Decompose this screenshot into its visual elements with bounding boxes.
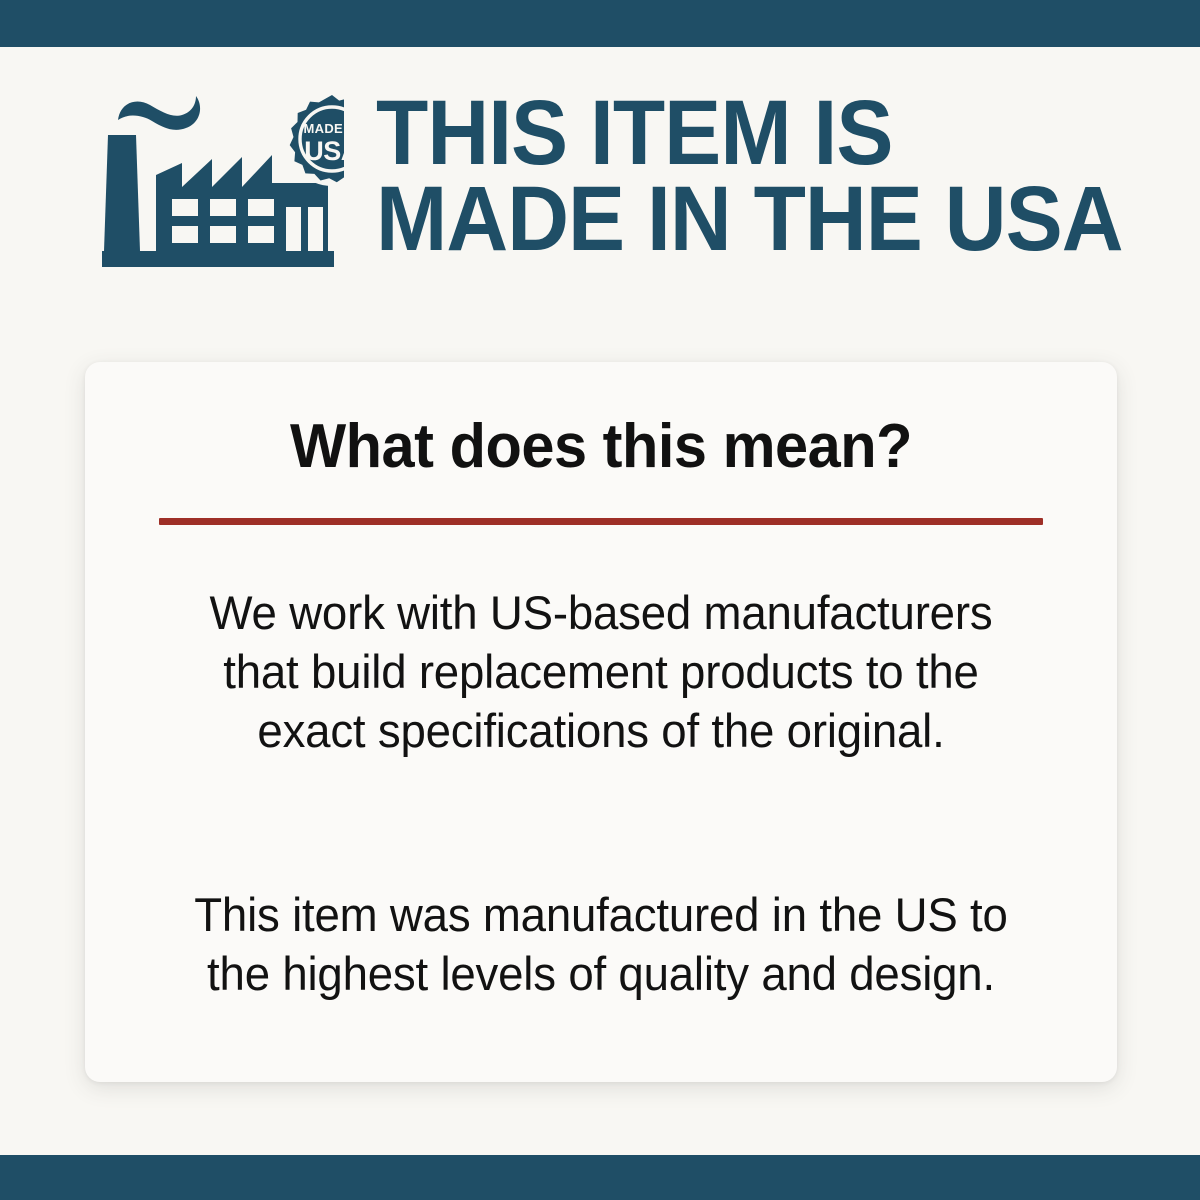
- factory-icon: MADE IN USA: [100, 87, 344, 273]
- made-in-usa-banner: MADE IN USA THIS ITEM IS MADE IN THE USA…: [0, 0, 1200, 1200]
- card-heading: What does this mean?: [173, 414, 1029, 480]
- card-paragraph-2: This item was manufactured in the US to …: [168, 885, 1033, 1003]
- banner-header: MADE IN USA THIS ITEM IS MADE IN THE USA: [0, 47, 1200, 309]
- card-divider: [159, 518, 1043, 525]
- banner-title-line-1: THIS ITEM IS: [376, 90, 1123, 176]
- badge-line1: MADE IN: [304, 121, 345, 136]
- made-in-usa-badge-icon: MADE IN USA: [285, 92, 344, 186]
- banner-title-line-2: MADE IN THE USA: [376, 176, 1123, 262]
- top-accent-bar: [0, 0, 1200, 47]
- bottom-accent-bar: [0, 1155, 1200, 1200]
- badge-line2: USA: [304, 136, 344, 166]
- explanation-card: What does this mean? We work with US-bas…: [85, 362, 1117, 1082]
- card-paragraph-1: We work with US-based manufacturers that…: [168, 583, 1033, 760]
- banner-title: THIS ITEM IS MADE IN THE USA: [376, 90, 1179, 262]
